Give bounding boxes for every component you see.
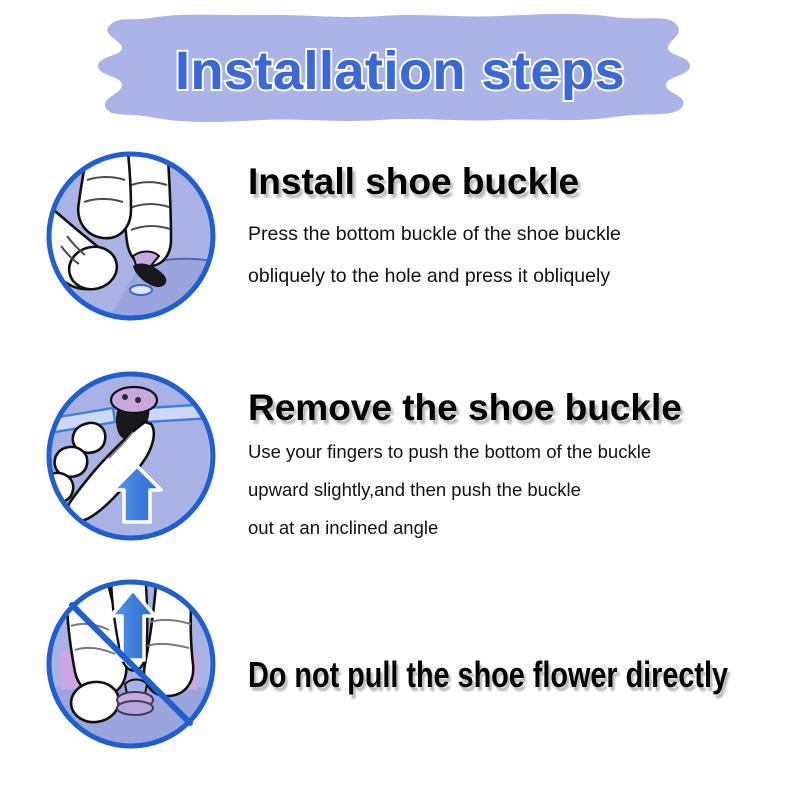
step-1-body-line-1: Press the bottom buckle of the shoe buck… — [248, 213, 788, 255]
step-row-3: Do not pull the shoe flower directly — [0, 578, 800, 768]
step-2-heading: Remove the shoe buckle — [248, 388, 788, 427]
step-1-heading: Install shoe buckle — [248, 162, 788, 201]
step-3-text-block: Do not pull the shoe flower directly — [248, 656, 788, 694]
title-banner: Installation steps Installation steps — [0, 10, 800, 135]
step-2-text-block: Remove the shoe buckle Use your fingers … — [248, 388, 788, 547]
step-2-body-line-1: Use your fingers to push the bottom of t… — [248, 433, 788, 471]
step-1-text-block: Install shoe buckle Press the bottom buc… — [248, 162, 788, 297]
page-title: Installation steps — [0, 40, 800, 102]
install-shoe-buckle-illustration — [45, 150, 217, 322]
installation-steps-infographic: Installation steps Installation steps — [0, 0, 800, 800]
step-row-2: Remove the shoe buckle Use your fingers … — [0, 370, 800, 560]
step-3-heading: Do not pull the shoe flower directly — [248, 656, 680, 694]
step-1-body-line-2: obliquely to the hole and press it obliq… — [248, 255, 788, 297]
step-2-body: Use your fingers to push the bottom of t… — [248, 433, 788, 547]
remove-shoe-buckle-illustration — [45, 370, 217, 542]
step-1-body: Press the bottom buckle of the shoe buck… — [248, 213, 788, 297]
step-row-1: Install shoe buckle Press the bottom buc… — [0, 150, 800, 340]
step-2-body-line-3: out at an inclined angle — [248, 509, 788, 547]
do-not-pull-illustration — [45, 578, 217, 750]
step-2-body-line-2: upward slightly,and then push the buckle — [248, 471, 788, 509]
